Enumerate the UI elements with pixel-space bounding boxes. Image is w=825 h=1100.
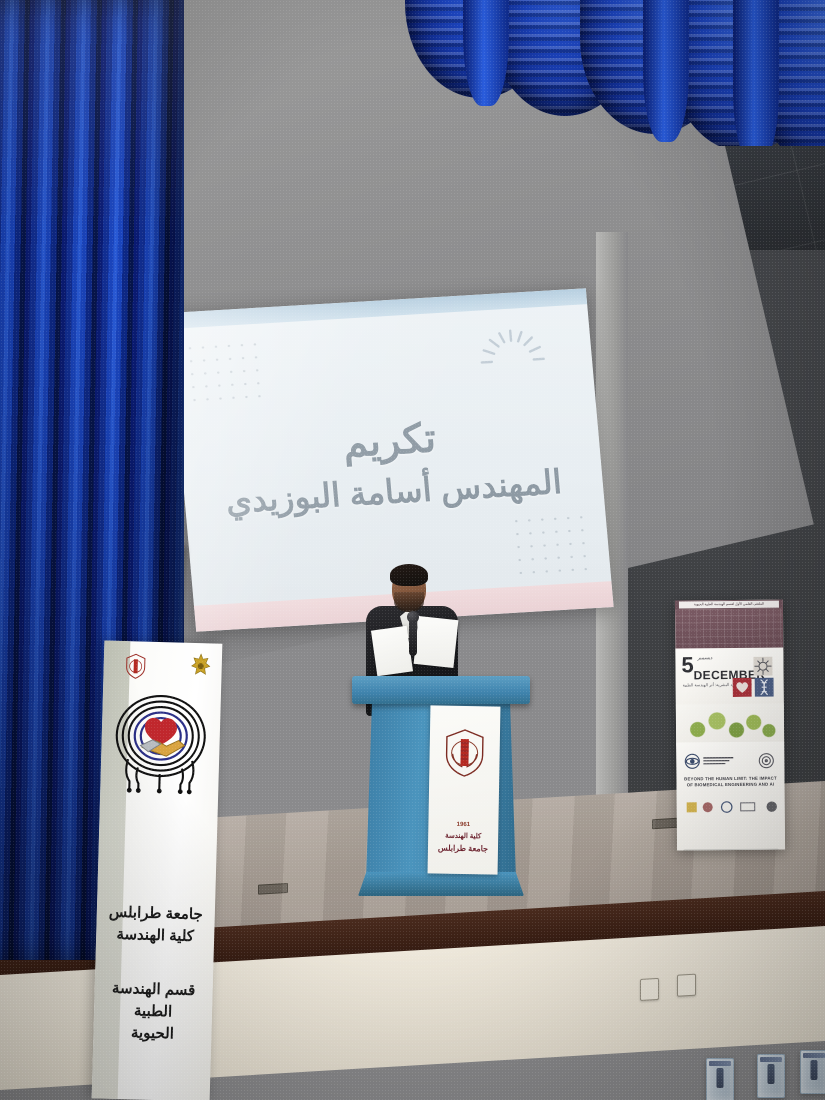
dot-grid-icon bbox=[509, 510, 596, 575]
handheld-microphone-icon bbox=[409, 618, 417, 656]
power-outlet-icon bbox=[640, 978, 659, 1001]
banner-university: جامعة طرابلس bbox=[97, 902, 215, 923]
dna-tile-icon bbox=[755, 678, 774, 697]
university-crest-icon bbox=[125, 653, 146, 680]
dot-grid-icon bbox=[183, 338, 267, 408]
certificate-paper bbox=[414, 616, 459, 668]
heart-tile-icon bbox=[733, 678, 752, 697]
banner-faculty: كلية الهندسة bbox=[96, 924, 214, 945]
banner-department-line1: قسم الهندسة bbox=[94, 978, 212, 999]
banner-header-text: الملتقى العلمي الأول لقسم الهندسة الطبية… bbox=[679, 601, 779, 609]
podium-top bbox=[352, 676, 530, 704]
banner-department-line2: الطبية bbox=[94, 1000, 212, 1021]
circuit-tile-icon bbox=[753, 657, 772, 676]
bme-department-logo bbox=[111, 687, 210, 798]
podium: 1961 كلية الهندسة جامعة طرابلس bbox=[352, 676, 530, 901]
speaker-beard bbox=[394, 592, 424, 612]
podium-base bbox=[358, 872, 524, 896]
glass-award-icon bbox=[706, 1058, 734, 1100]
podium-faculty: كلية الهندسة bbox=[428, 831, 498, 840]
banner-lower-block: BEYOND THE HUMAN LIMIT: THE IMPACT OF BI… bbox=[676, 742, 785, 851]
banner-day-number: 5 bbox=[681, 656, 693, 675]
banner-department-line3: الحيوية bbox=[93, 1022, 211, 1043]
banner-tagline-line2: OF BIOMEDICAL ENGINEERING AND AI bbox=[687, 782, 775, 788]
podium-university: جامعة طرابلس bbox=[428, 843, 498, 853]
university-crest-icon bbox=[443, 728, 486, 779]
sunburst-icon bbox=[471, 324, 553, 378]
banner-pattern-band bbox=[675, 609, 783, 652]
banner-kicker-arabic: ديسمبر bbox=[697, 655, 712, 661]
banner-partner-logos-top bbox=[676, 752, 784, 771]
banner-tagline-line1: BEYOND THE HUMAN LIMIT: THE IMPACT bbox=[684, 776, 777, 782]
banner-right: الملتقى العلمي الأول لقسم الهندسة الطبية… bbox=[675, 600, 785, 851]
banner-tagline: BEYOND THE HUMAN LIMIT: THE IMPACT OF BI… bbox=[680, 776, 780, 789]
banner-foliage-image bbox=[676, 704, 784, 747]
banner-partner-logos-bottom bbox=[677, 800, 785, 815]
stage-curtain-valance bbox=[395, 0, 825, 146]
state-emblem-icon bbox=[189, 653, 212, 680]
photo-scene: تكريم المهندس أسامة البوزيدي bbox=[0, 0, 825, 1100]
certificate-paper bbox=[371, 626, 413, 677]
power-outlet-icon bbox=[677, 974, 696, 997]
glass-award-icon bbox=[757, 1054, 785, 1098]
podium-sign: 1961 كلية الهندسة جامعة طرابلس bbox=[428, 705, 501, 874]
glass-award-icon bbox=[800, 1050, 825, 1094]
banner-left: جامعة طرابلس كلية الهندسة قسم الهندسة ال… bbox=[92, 640, 223, 1100]
banner-title-block: 5 ديسمبر DECEMBER تجاوز الحدود البشرية: … bbox=[675, 648, 784, 711]
speaker-hair bbox=[390, 564, 428, 586]
crest-year: 1961 bbox=[428, 821, 498, 828]
